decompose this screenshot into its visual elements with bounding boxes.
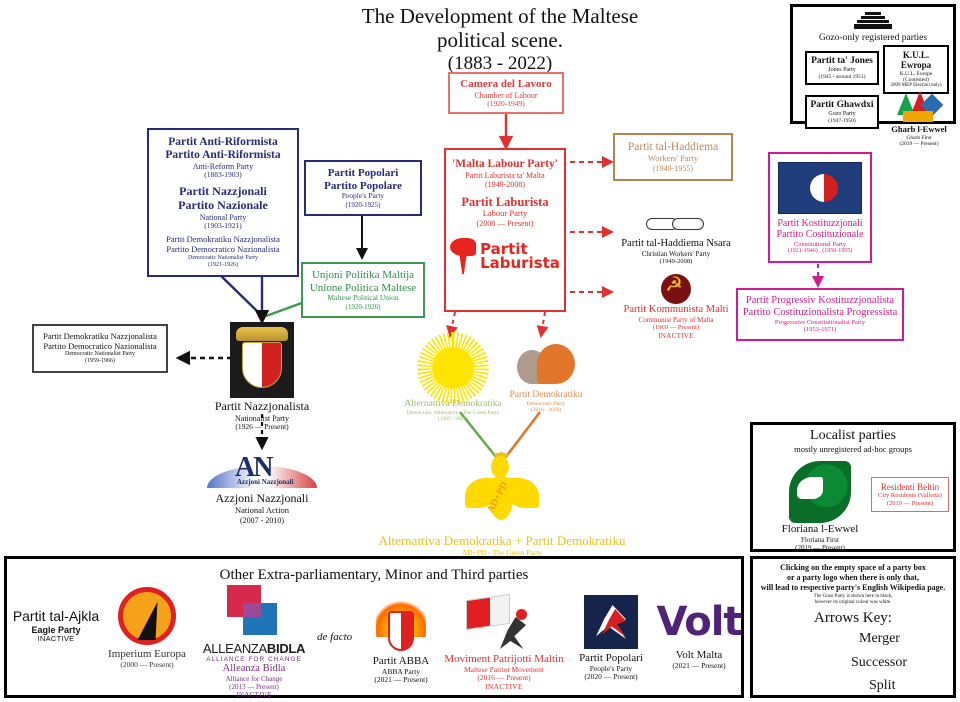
party-name: Alleanza Bidla: [189, 663, 319, 675]
party-name-mt: Partit Laburista ta' Malta: [450, 171, 560, 180]
party-name: Partit ta' Jones: [809, 56, 875, 67]
party-years: (2019 — Present): [874, 500, 946, 508]
party-name: Partit Ghawdxi: [809, 100, 875, 111]
adpd-flower-logo-icon: AD+PD: [463, 462, 541, 532]
diagram-canvas: The Development of the Maltese political…: [0, 0, 960, 702]
party-name: Partit Anti-Riformista: [153, 136, 293, 149]
logo-text-2: BIDLA: [267, 641, 305, 656]
party-years: (1920-1925): [310, 201, 416, 209]
party-name: Alternattiva Demokratika + Partit Demokr…: [368, 534, 636, 549]
gozo-party-kul-ewropa[interactable]: K.U.L. Ewropa K.U.L. Europe (Contested) …: [883, 45, 949, 94]
arrows-key-panel: Clicking on the empty space of a party b…: [750, 556, 956, 698]
party-years: (1926 — Present): [206, 423, 318, 432]
party-imperium-europa[interactable]: Imperium Europa (2000 — Present): [99, 587, 195, 669]
party-partit-demokratiku[interactable]: Partit Demokratiku Democratic Party (201…: [500, 340, 592, 414]
party-progressiv-kostituzzjonalista[interactable]: Partit Progressiv Kostituzzjonalista Par…: [736, 288, 904, 341]
party-english: Christian Workers' Party: [612, 250, 740, 258]
party-partit-popolari[interactable]: Partit Popolari Partito Popolare People'…: [304, 160, 422, 216]
de-facto-label: de facto: [317, 631, 352, 643]
party-english: National Action: [206, 506, 318, 516]
party-english: Labour Party: [450, 209, 560, 219]
party-name: Partit tal-Haddiema Nsara: [612, 238, 740, 250]
labour-torch-logo-icon: Partit Laburista: [450, 238, 560, 274]
party-partit-tal-haddiema[interactable]: Partit tal-Haddiema Workers' Party (1949…: [613, 133, 733, 181]
party-status: INACTIVE: [9, 635, 103, 644]
party-english: Maltese Political Union: [307, 294, 419, 303]
party-partit-nazzjonalista[interactable]: Partit Nazzjonalista Nationalist Party (…: [206, 322, 318, 432]
party-name: Partit Nazzjonalista: [206, 400, 318, 414]
party-english: Alliance for Change: [189, 675, 319, 683]
title-line-2: political scene.: [330, 28, 670, 52]
imperium-bolt-icon: [118, 587, 176, 645]
party-years: (1989 - 2020): [390, 416, 516, 422]
abba-flame-lion-icon: [372, 597, 430, 655]
party-years: (1921-1946) , (1950-1955): [774, 248, 866, 255]
party-years: (2013 — Present): [189, 683, 319, 691]
logo-text-2: Laburista: [480, 256, 560, 270]
localist-residenti-beltin[interactable]: Residenti Beltin City Residents (Vallett…: [871, 477, 949, 512]
arrows-key-heading: Arrows Key:: [753, 610, 953, 627]
party-years: (1920-1926): [307, 303, 419, 311]
party-name: Partit tal-Ajkla: [9, 609, 103, 625]
key-note-3: will lead to respective party's English …: [753, 583, 953, 593]
party-years: (1947-1950): [809, 118, 875, 124]
party-abba[interactable]: Partit ABBA ABBA Party (2021 — Present): [357, 597, 445, 685]
key-item-merger: Merger: [859, 631, 900, 647]
logo-text-1: ALLEANZA: [203, 641, 267, 656]
party-english: Communist Party of Malta: [612, 316, 740, 324]
party-name: Partit Kommunista Malti: [612, 304, 740, 316]
party-years: (1949-1955): [619, 164, 727, 173]
party-years: (2019 — Present): [889, 141, 949, 147]
party-status: INACTIVE: [189, 691, 319, 699]
party-alleanza-bidla[interactable]: ALLEANZABIDLA ALLIANCE FOR CHANGE Allean…: [189, 585, 319, 699]
party-name: Partit Popolari: [310, 167, 416, 180]
gozo-banner-icon: [854, 10, 892, 32]
gozo-panel-heading: Gozo-only registered parties: [793, 33, 953, 43]
party-status: INACTIVE: [439, 683, 569, 692]
party-alternattiva-demokratika[interactable]: Alternattiva Demokratika Democratic Alte…: [390, 340, 516, 423]
party-name-3-it: Partito Democratico Nazionalista: [153, 245, 293, 255]
party-partit-popolari-new[interactable]: Partit Popolari People's Party (2020 — P…: [563, 595, 659, 682]
party-name-it: Partito Democratico Nazionalista: [38, 342, 162, 352]
party-english-3: Democratic Nationalist Party: [153, 255, 293, 262]
key-note-1: Clicking on the empty space of a party b…: [753, 563, 953, 573]
extra-parliamentary-panel: Other Extra-parliamentary, Minor and Thi…: [4, 556, 744, 698]
party-name: Residenti Beltin: [874, 482, 946, 492]
party-name: K.U.L. Ewropa: [887, 50, 945, 71]
party-years: (2021 — Present): [357, 676, 445, 685]
party-status: INACTIVE: [612, 332, 740, 340]
party-english: Jones Party: [809, 67, 875, 74]
party-name: Floriana l-Ewwel: [765, 523, 875, 536]
party-years: (2019 — Present): [765, 544, 875, 552]
party-years: (2007 - 2010): [206, 516, 318, 525]
key-item-successor: Successor: [851, 655, 907, 671]
party-azzjoni-nazzjonali[interactable]: AN Azzjoni Nazzjonali Azzjoni Nazzjonali…: [206, 452, 318, 525]
party-years: (1949-2008): [612, 258, 740, 266]
party-years: (1945 - around 1951): [809, 74, 875, 80]
party-name: Partit ABBA: [357, 655, 445, 668]
party-years-2: (2008 — Present): [450, 219, 560, 228]
gozo-panel: Gozo-only registered parties Partit ta' …: [790, 4, 956, 124]
party-years: (2021 — Present): [649, 662, 749, 671]
party-years: (2020 — Present): [563, 673, 659, 682]
pd-bubbles-logo-icon: [517, 344, 575, 388]
party-name: Imperium Europa: [99, 648, 195, 661]
party-years: (2000 — Present): [99, 661, 195, 670]
party-name: Azzjoni Nazzjonali: [206, 492, 318, 506]
party-years: (1953-1971): [742, 326, 898, 334]
volt-logo-text: Volt: [649, 599, 749, 645]
party-years: (1949-2008): [450, 180, 560, 189]
party-name: Unjoni Politika Maltija: [307, 269, 419, 282]
party-camera-del-lavoro[interactable]: Camera del Lavoro Chamber of Labour (192…: [448, 72, 564, 114]
party-name: Partit Kostituzzjonali: [774, 218, 866, 229]
party-name-it: Partito Costituzionalista Progressista: [742, 307, 898, 319]
key-item-split: Split: [869, 678, 895, 694]
party-years: 2009 MEP Election only): [887, 83, 945, 89]
azzjoni-nazzjonali-logo-icon: AN Azzjoni Nazzjonali: [207, 452, 317, 492]
constitutional-flag-icon: [778, 162, 862, 214]
party-years-2: (1903-1921): [153, 222, 293, 231]
party-years: (1969 — Present): [612, 324, 740, 332]
key-note-2: or a party logo when there is only that,: [753, 573, 953, 583]
party-years: (1920-1949): [456, 100, 556, 109]
party-name: Partit Popolari: [563, 652, 659, 665]
party-partit-tal-ajkla[interactable]: Partit tal-Ajkla Eagle Party INACTIVE: [9, 609, 103, 644]
key-footnote-2: however its original colour was white.: [753, 600, 953, 606]
party-name: Partit Demokratiku: [500, 390, 592, 401]
party-english: Workers' Party: [619, 154, 727, 164]
alleanza-bidla-squares-icon: [223, 585, 285, 641]
party-name-it: Partito Costituzionale: [774, 229, 866, 240]
logo-subtext: Azzjoni Nazzjonali: [237, 478, 294, 486]
party-partit-laburista[interactable]: 'Malta Labour Party' Partit Laburista ta…: [444, 148, 566, 312]
logo-subtext: ALLIANCE FOR CHANGE: [189, 656, 319, 663]
party-name: Partit Progressiv Kostituzzjonalista: [742, 295, 898, 307]
extra-parliamentary-heading: Other Extra-parliamentary, Minor and Thi…: [7, 567, 741, 584]
localist-panel: Localist parties mostly unregistered ad-…: [750, 422, 956, 552]
gozo-party-ghawdxi[interactable]: Partit Ghawdxi Gozo Party (1947-1950): [805, 95, 879, 129]
gozo-party-jones[interactable]: Partit ta' Jones Jones Party (1945 - aro…: [805, 51, 879, 85]
communist-emblem-icon: [661, 274, 691, 304]
patriot-flag-runner-icon: [466, 595, 542, 653]
party-name: Volt Malta: [649, 649, 749, 662]
gozo-party-gharb-l-ewwel[interactable]: Gharb l-Ewwel Gharb First (2019 — Presen…: [889, 91, 949, 147]
party-name-2-it: Partito Nazionale: [153, 199, 293, 213]
party-anti-riformista[interactable]: Partit Anti-Riformista Partito Anti-Rifo…: [147, 128, 299, 277]
party-name: Camera del Lavoro: [456, 78, 556, 91]
party-english: Gozo Party: [809, 111, 875, 118]
party-kommunista-malti[interactable]: Partit Kommunista Malti Communist Party …: [612, 274, 740, 340]
party-name-2: Partit Nazzjonali: [153, 185, 293, 199]
party-years: (1959-1966): [38, 358, 162, 365]
party-years: (1883-1903): [153, 171, 293, 180]
party-name-it: Partito Anti-Riformista: [153, 149, 293, 162]
party-years-3: (1921-1926): [153, 262, 293, 269]
party-unjoni-politika-maltija[interactable]: Unjoni Politika Maltija Unione Politica …: [301, 262, 425, 318]
localist-floriana-l-ewwel[interactable]: Floriana l-Ewwel Floriana First (2019 — …: [765, 461, 875, 552]
nationalist-shield-icon: [230, 322, 294, 398]
party-volt-malta[interactable]: Volt Volt Malta (2021 — Present): [649, 599, 749, 670]
lion-icon: [789, 461, 851, 523]
party-english: People's Party: [310, 192, 416, 201]
gharb-logo-icon: [897, 91, 941, 125]
handshake-icon: [646, 212, 706, 238]
party-english: Floriana First: [765, 536, 875, 544]
page-title: The Development of the Maltese political…: [330, 4, 670, 75]
party-kostituzzjonali[interactable]: Partit Kostituzzjonali Partito Costituzi…: [768, 152, 872, 263]
party-moviment-patrijotti-maltin[interactable]: Moviment Patrijotti Maltin Maltese Patri…: [439, 595, 569, 692]
party-english: City Residents (Valletta): [874, 492, 946, 500]
party-years: (2016 - 2020): [500, 407, 592, 413]
popolari-star-icon: [584, 595, 638, 649]
party-demokratiku-nazzjonalista[interactable]: Partit Demokratiku Nazzjonalista Partito…: [32, 324, 168, 373]
party-name: 'Malta Labour Party': [450, 158, 560, 171]
party-name: Moviment Patrijotti Maltin: [439, 653, 569, 666]
localist-heading: Localist parties: [753, 428, 953, 444]
ad-sun-logo-icon: [425, 340, 481, 396]
party-name-2: Partit Laburista: [450, 195, 560, 209]
localist-subheading: mostly unregistered ad-hoc groups: [753, 444, 953, 454]
title-line-1: The Development of the Maltese: [330, 4, 670, 28]
party-english: Progressive Constitutionalist Party: [742, 319, 898, 327]
party-name: Gharb l-Ewwel: [889, 125, 949, 135]
party-haddiema-nsara[interactable]: Partit tal-Haddiema Nsara Christian Work…: [612, 212, 740, 266]
